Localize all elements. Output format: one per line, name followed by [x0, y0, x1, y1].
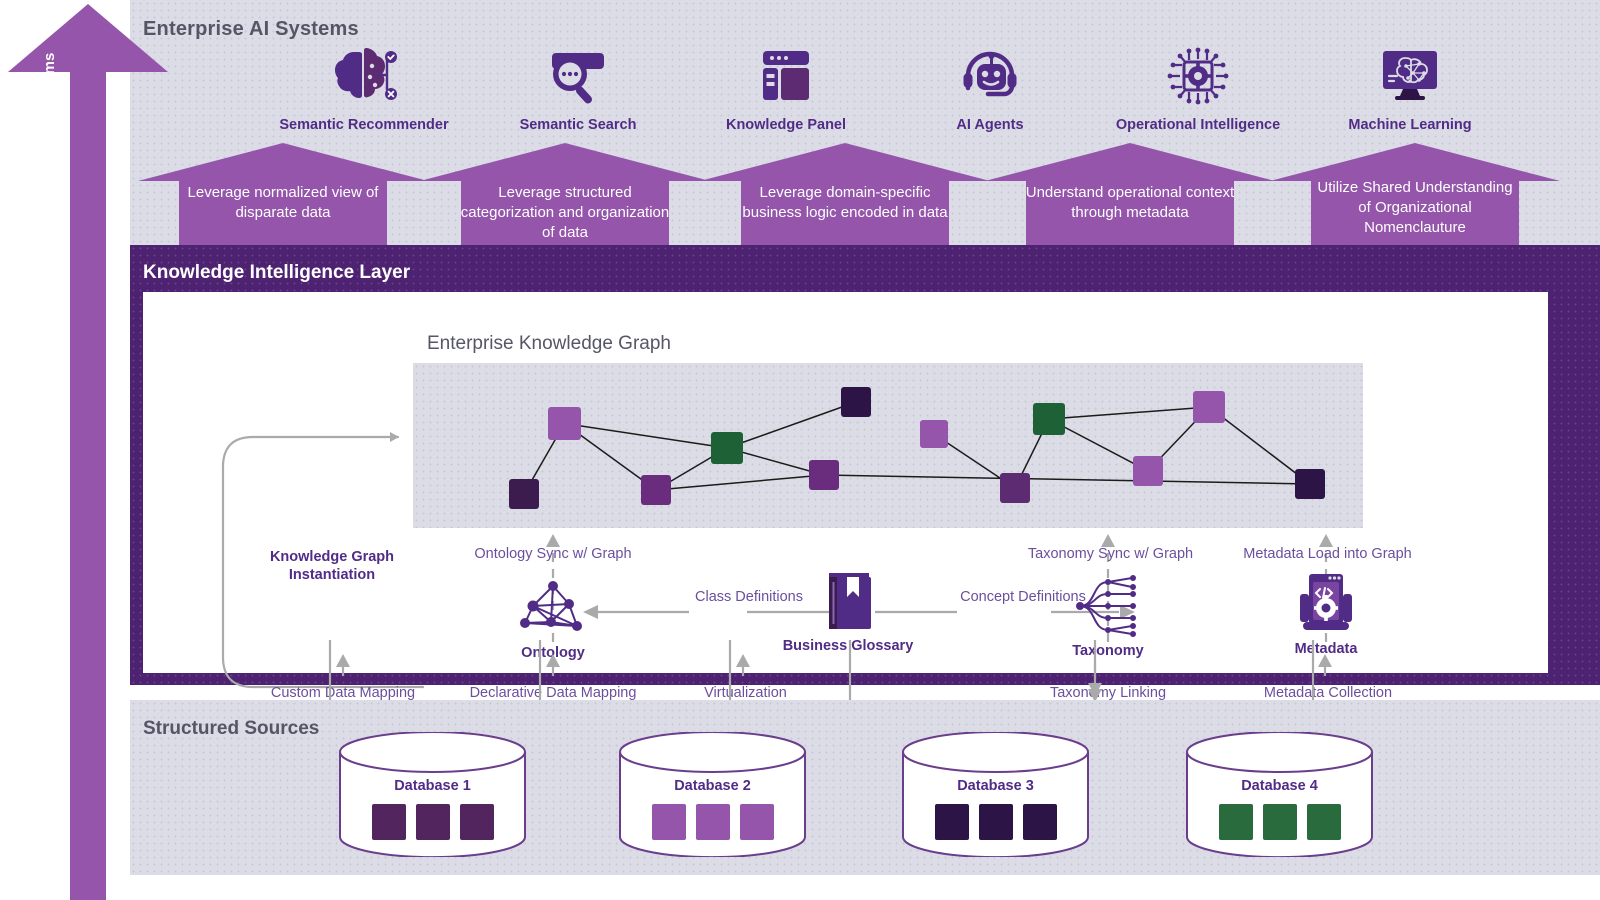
kg-edge [727, 402, 856, 448]
banner-text: Leverage domain-specific business logic … [741, 175, 950, 223]
database-cells [335, 804, 530, 840]
enterprise-knowledge-graph-title: Enterprise Knowledge Graph [427, 333, 671, 355]
ai-system-semantic-search[interactable]: Semantic Search [478, 45, 678, 134]
kil-content: Enterprise Knowledge Graph Knowledge Gra… [143, 292, 1548, 673]
banner-text: Utilize Shared Understanding of Organiza… [1311, 175, 1520, 238]
ai-system-knowledge-panel[interactable]: Knowledge Panel [686, 45, 886, 134]
taxonomy-sync-label: Taxonomy Sync w/ Graph [1003, 545, 1218, 563]
value-flow-arrow-text: Injecting business context into structur… [39, 31, 62, 791]
database-label: Database 1 [335, 778, 530, 794]
kg-instantiation-label: Knowledge Graph Instantiation [237, 548, 427, 584]
ai-system-label: Machine Learning [1310, 117, 1510, 134]
database-cells [898, 804, 1093, 840]
taxonomy-linking-down-arrow [1080, 660, 1112, 700]
monitor-brain-icon [1310, 45, 1510, 107]
kg-edge [1049, 407, 1209, 419]
structured-sources-band: Structured Sources Database 1 Database 2 [130, 700, 1600, 875]
robot-headset-icon [890, 45, 1090, 107]
database-cells [615, 804, 810, 840]
db-cell [1219, 804, 1253, 840]
value-banner-5: Utilize Shared Understanding of Organiza… [1270, 143, 1560, 248]
kg-node[interactable] [509, 479, 539, 509]
db-cell [1307, 804, 1341, 840]
magnifier-search-icon [478, 45, 678, 107]
kg-node[interactable] [1193, 391, 1225, 423]
database-2[interactable]: Database 2 [615, 732, 810, 857]
ai-system-machine-learning[interactable]: Machine Learning [1310, 45, 1510, 134]
database-3[interactable]: Database 3 [898, 732, 1093, 857]
database-4[interactable]: Database 4 [1182, 732, 1377, 857]
db-cell [696, 804, 730, 840]
banner-text: Leverage structured categorization and o… [461, 175, 670, 243]
banner-text: Understand operational context through m… [1026, 175, 1235, 223]
chip-gear-icon [1098, 45, 1298, 107]
kg-node[interactable] [841, 387, 871, 417]
knowledge-intelligence-layer: Knowledge Intelligence Layer Enterprise … [130, 245, 1600, 685]
diagram-canvas: Enterprise AI Systems Semantic Recommend… [0, 0, 1600, 900]
enterprise-ai-systems-title: Enterprise AI Systems [143, 18, 359, 41]
db-cell [935, 804, 969, 840]
db-cell [979, 804, 1013, 840]
database-cells [1182, 804, 1377, 840]
kg-node[interactable] [920, 420, 948, 448]
value-banner-1: Leverage normalized view of disparate da… [138, 143, 428, 248]
db-cell [1023, 804, 1057, 840]
ai-system-label: Semantic Recommender [264, 117, 464, 134]
value-banner-4: Understand operational context through m… [985, 143, 1275, 248]
enterprise-knowledge-graph-panel: Enterprise Knowledge Graph [413, 363, 1363, 528]
db-cell [372, 804, 406, 840]
kg-edge [656, 475, 824, 490]
db-cell [416, 804, 450, 840]
db-cell [460, 804, 494, 840]
database-label: Database 4 [1182, 778, 1377, 794]
ai-system-label: Knowledge Panel [686, 117, 886, 134]
db-cell [1263, 804, 1297, 840]
knowledge-intelligence-layer-title: Knowledge Intelligence Layer [143, 262, 410, 284]
kg-node[interactable] [641, 475, 671, 505]
kg-edge [824, 475, 1310, 484]
kg-node[interactable] [809, 460, 839, 490]
panel-layout-icon [686, 45, 886, 107]
ai-system-label: Semantic Search [478, 117, 678, 134]
kg-node[interactable] [1033, 403, 1065, 435]
ai-system-ai-agents[interactable]: AI Agents [890, 45, 1090, 134]
ai-system-label: Operational Intelligence [1098, 117, 1298, 134]
kg-node[interactable] [711, 432, 743, 464]
kg-node[interactable] [548, 407, 581, 440]
db-cell [652, 804, 686, 840]
value-banner-3: Leverage domain-specific business logic … [700, 143, 990, 248]
kg-node[interactable] [1133, 456, 1163, 486]
metadata-load-label: Metadata Load into Graph [1215, 545, 1440, 563]
knowledge-graph-svg [413, 363, 1363, 528]
brain-network-icon [264, 45, 464, 107]
kg-node[interactable] [1295, 469, 1325, 499]
database-1[interactable]: Database 1 [335, 732, 530, 857]
kg-edge [565, 424, 728, 449]
ai-system-label: AI Agents [890, 117, 1090, 134]
ai-system-semantic-recommender[interactable]: Semantic Recommender [264, 45, 464, 134]
ontology-sync-label: Ontology Sync w/ Graph [448, 545, 658, 563]
kg-node[interactable] [1000, 473, 1030, 503]
banner-text: Leverage normalized view of disparate da… [179, 175, 388, 223]
database-label: Database 2 [615, 778, 810, 794]
db-cell [740, 804, 774, 840]
database-label: Database 3 [898, 778, 1093, 794]
ai-system-operational-intelligence[interactable]: Operational Intelligence [1098, 45, 1298, 134]
value-banner-2: Leverage structured categorization and o… [420, 143, 710, 248]
value-flow-arrow: Injecting business context into structur… [0, 0, 175, 900]
